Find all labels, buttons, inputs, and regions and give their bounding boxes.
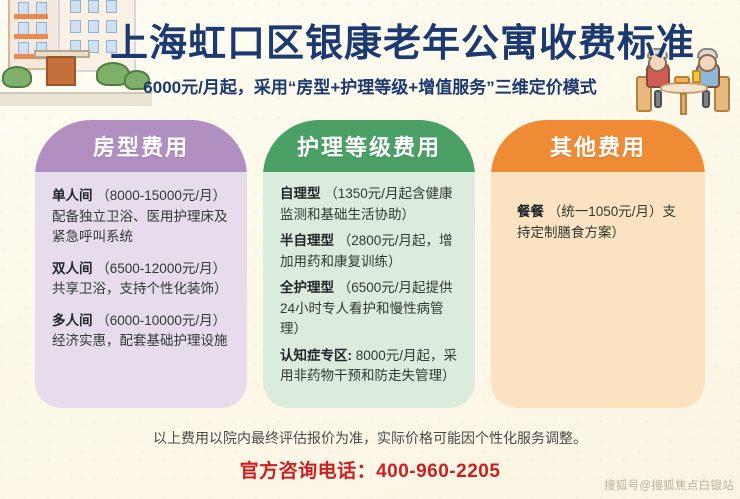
pricing-cards: 房型费用 单人间 （8000-15000元/月）配备独立卫浴、医用护理床及紧急呼… (0, 120, 740, 412)
poster-canvas: 上海虹口区银康老年公寓收费标准 6000元/月起，采用“房型+护理等级+增值服务… (0, 0, 740, 499)
footer-disclaimer: 以上费用以院内最终评估报价为准，实际价格可能因个性化服务调整。 (0, 428, 740, 448)
card-heading-room-type: 房型费用 (35, 120, 247, 172)
pricing-card-room-type: 房型费用 单人间 （8000-15000元/月）配备独立卫浴、医用护理床及紧急呼… (35, 120, 247, 408)
item-name: 双人间 (52, 261, 93, 276)
item-name: 多人间 (52, 313, 93, 328)
item-name: 自理型 (280, 186, 321, 201)
list-item: 半自理型 （2800元/月起，增加用药和康复训练） (280, 231, 458, 272)
item-name: 餐餐 (517, 204, 544, 219)
item-name: 全护理型 (280, 280, 334, 295)
page-subtitle: 6000元/月起，采用“房型+护理等级+增值服务”三维定价模式 (90, 73, 650, 98)
card-body-other-fees: 餐餐 （统一1050元/月）支持定制膳食方案） (491, 172, 705, 408)
item-name: 半自理型 (280, 233, 334, 248)
page-title: 上海虹口区银康老年公寓收费标准 (110, 12, 670, 67)
item-name: 认知症专区: (280, 348, 352, 363)
list-item: 单人间 （8000-15000元/月）配备独立卫浴、医用护理床及紧急呼叫系统 (52, 186, 230, 248)
watermark: 搜狐号@搜狐焦点白银站 (604, 477, 734, 493)
list-item: 双人间 （6500-12000元/月）共享卫浴，支持个性化装饰） (52, 259, 230, 300)
card-body-room-type: 单人间 （8000-15000元/月）配备独立卫浴、医用护理床及紧急呼叫系统 双… (35, 172, 247, 408)
list-item: 餐餐 （统一1050元/月）支持定制膳食方案） (517, 202, 679, 243)
card-body-care-level: 自理型 （1350元/月起含健康监测和基础生活协助） 半自理型 （2800元/月… (263, 172, 475, 408)
list-item: 自理型 （1350元/月起含健康监测和基础生活协助） (280, 184, 458, 225)
list-item: 多人间 （6000-10000元/月）经济实惠，配套基础护理设施 (52, 311, 230, 352)
card-heading-other-fees: 其他费用 (491, 120, 705, 172)
pricing-card-other-fees: 其他费用 餐餐 （统一1050元/月）支持定制膳食方案） (491, 120, 705, 408)
item-name: 单人间 (52, 188, 93, 203)
list-item: 认知症专区: 8000元/月起，采用非药物干预和防走失管理） (280, 346, 458, 387)
list-item: 全护理型 （6500元/月起提供24小时专人看护和慢性病管理） (280, 278, 458, 340)
card-heading-care-level: 护理等级费用 (263, 120, 475, 172)
pricing-card-care-level: 护理等级费用 自理型 （1350元/月起含健康监测和基础生活协助） 半自理型 （… (263, 120, 475, 408)
